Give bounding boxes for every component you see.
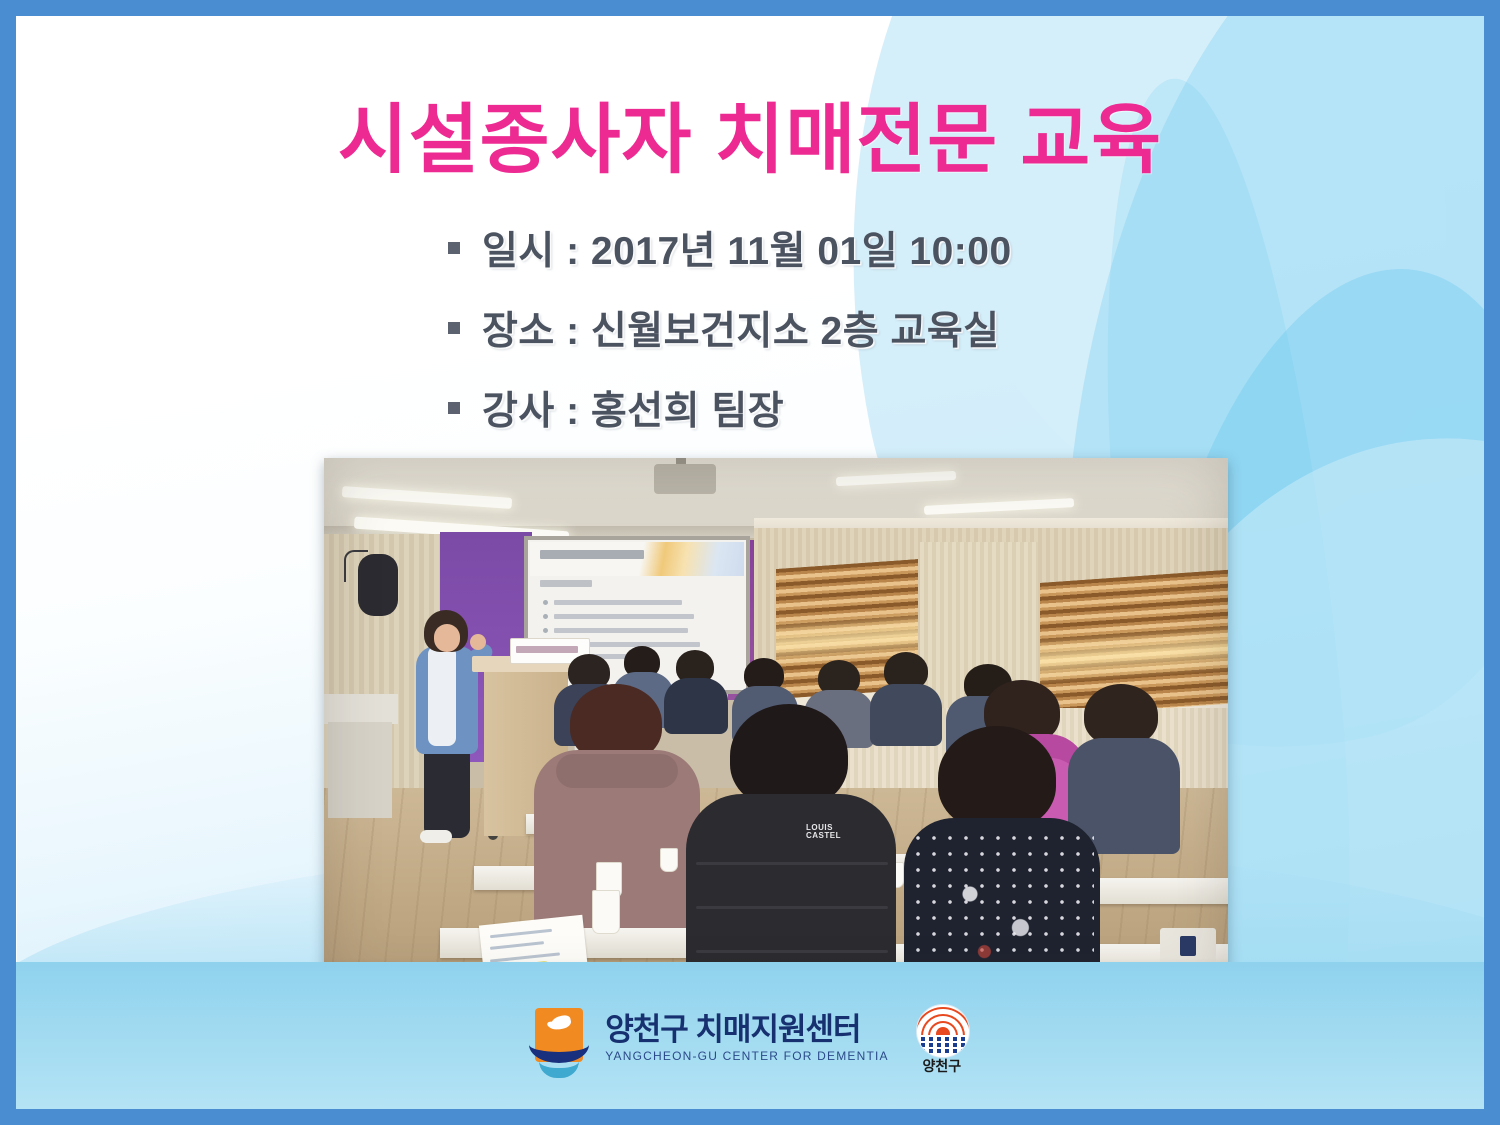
emblem-label: 양천구 [913, 1056, 971, 1076]
center-logo-text: 양천구 치매지원센터 YANGCHEON-GU CENTER FOR DEMEN… [605, 1014, 889, 1064]
detail-location: 장소 : 신월보건지소 2층 교육실 [482, 300, 1000, 356]
page-title: 시설종사자 치매전문 교육 [16, 78, 1484, 188]
logo-blue-chevron [539, 1040, 579, 1078]
detail-date: 일시 : 2017년 11월 01일 10:00 [482, 220, 1012, 276]
center-name-english: YANGCHEON-GU CENTER FOR DEMENTIA [605, 1049, 889, 1063]
center-logo-icon [529, 1008, 589, 1070]
detail-lecturer: 강사 : 홍선희 팀장 [482, 380, 784, 436]
emblem-circle [916, 1004, 970, 1058]
list-item: 일시 : 2017년 11월 01일 10:00 [448, 220, 1012, 276]
square-bullet-icon [448, 322, 460, 334]
slide-canvas: 시설종사자 치매전문 교육 일시 : 2017년 11월 01일 10:00 장… [16, 16, 1484, 1109]
emblem-wave-icon [916, 1043, 970, 1047]
slide-frame: 시설종사자 치매전문 교육 일시 : 2017년 11월 01일 10:00 장… [0, 0, 1500, 1125]
center-name-korean: 양천구 치매지원센터 [605, 1014, 889, 1047]
emblem-wave-icon [916, 1049, 970, 1053]
event-photo: LOUIS CASTEL [324, 458, 1228, 994]
detail-list: 일시 : 2017년 11월 01일 10:00 장소 : 신월보건지소 2층 … [448, 220, 1012, 460]
list-item: 강사 : 홍선희 팀장 [448, 380, 1012, 436]
list-item: 장소 : 신월보건지소 2층 교육실 [448, 300, 1012, 356]
footer-band: 양천구 치매지원센터 YANGCHEON-GU CENTER FOR DEMEN… [16, 962, 1484, 1109]
square-bullet-icon [448, 242, 460, 254]
square-bullet-icon [448, 402, 460, 414]
footer-logos: 양천구 치매지원센터 YANGCHEON-GU CENTER FOR DEMEN… [529, 1004, 971, 1074]
emblem-wave-icon [916, 1037, 970, 1041]
yangcheon-gu-emblem: 양천구 [913, 1004, 971, 1074]
photo-vignette [324, 458, 1228, 994]
